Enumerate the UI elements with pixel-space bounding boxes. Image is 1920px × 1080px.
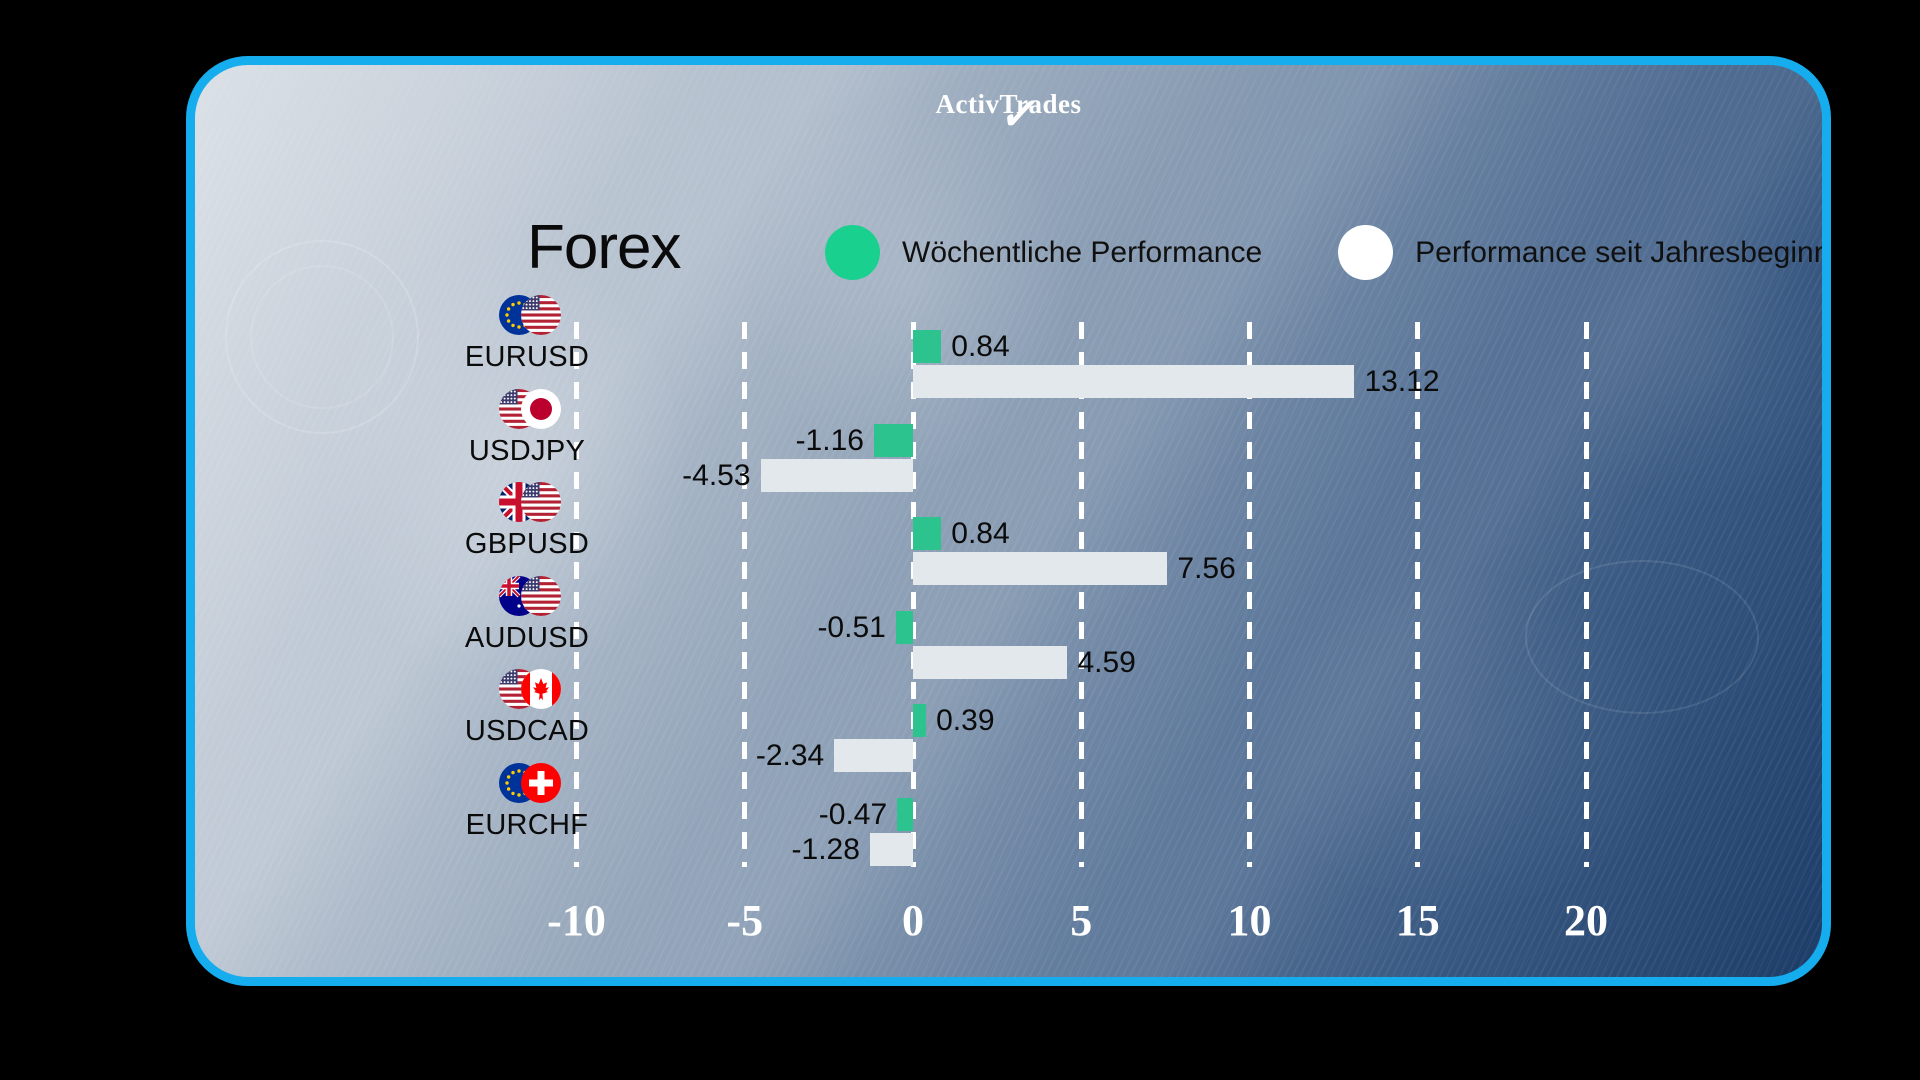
category-label-eurchf: EURCHF <box>417 763 637 842</box>
category-name: EURUSD <box>417 341 637 374</box>
category-name: GBPUSD <box>417 528 637 561</box>
bar-value-gbpusd-ytd: 7.56 <box>1177 552 1235 585</box>
category-label-eurusd: EURUSD <box>417 295 637 374</box>
chart-plot-area: EURUSD0.8413.12USDJPY-1.16-4.53GBPUSD0.8… <box>195 310 1822 880</box>
category-name: USDCAD <box>417 715 637 748</box>
bar-value-gbpusd-weekly: 0.84 <box>951 517 1009 550</box>
bar-usdcad-ytd[interactable] <box>834 739 913 772</box>
bar-value-eurusd-ytd: 13.12 <box>1364 365 1439 398</box>
x-axis-title: % Prozentuale Performance <box>195 970 1822 986</box>
bar-eurchf-ytd[interactable] <box>870 833 913 866</box>
flag-us-icon <box>521 576 561 616</box>
x-tick--5: -5 <box>726 895 763 946</box>
category-label-usdjpy: USDJPY <box>417 389 637 468</box>
white-dot-icon <box>1338 225 1393 280</box>
bar-usdcad-weekly[interactable] <box>913 704 926 737</box>
flag-pair-icon <box>417 295 637 339</box>
category-name: USDJPY <box>417 435 637 468</box>
activtrades-logo: Activ✓Trades <box>195 89 1822 120</box>
category-label-usdcad: USDCAD <box>417 669 637 748</box>
bar-value-usdcad-ytd: -2.34 <box>756 739 824 772</box>
gridline-15 <box>1415 322 1420 867</box>
bar-gbpusd-ytd[interactable] <box>913 552 1167 585</box>
bar-value-eurusd-weekly: 0.84 <box>951 330 1009 363</box>
flag-pair-icon <box>417 763 637 807</box>
x-tick--10: -10 <box>547 895 606 946</box>
category-name: AUDUSD <box>417 622 637 655</box>
flag-pair-icon <box>417 482 637 526</box>
bar-value-usdcad-weekly: 0.39 <box>936 704 994 737</box>
bar-eurusd-weekly[interactable] <box>913 330 941 363</box>
bar-value-audusd-weekly: -0.51 <box>817 611 885 644</box>
bar-value-eurchf-weekly: -0.47 <box>819 798 887 831</box>
bar-usdjpy-weekly[interactable] <box>874 424 913 457</box>
legend-label-weekly: Wöchentliche Performance <box>902 236 1262 270</box>
legend-label-ytd: Performance seit Jahresbeginn <box>1415 236 1830 270</box>
bar-eurchf-weekly[interactable] <box>897 798 913 831</box>
x-axis-ticks: -10-505101520 <box>195 895 1822 955</box>
page-title: Forex <box>527 217 680 279</box>
bar-value-usdjpy-ytd: -4.53 <box>682 459 750 492</box>
logo-activ: Activ <box>936 89 1000 119</box>
screenshot-root: Activ✓Trades Forex Wöchentliche Performa… <box>0 0 1920 1080</box>
green-dot-icon <box>825 225 880 280</box>
gridline-10 <box>1247 322 1252 867</box>
category-name: EURCHF <box>417 809 637 842</box>
legend-item-weekly[interactable]: Wöchentliche Performance <box>825 225 1262 280</box>
flag-us-icon <box>521 295 561 335</box>
category-label-gbpusd: GBPUSD <box>417 482 637 561</box>
bar-value-usdjpy-weekly: -1.16 <box>796 424 864 457</box>
infographic-card: Activ✓Trades Forex Wöchentliche Performa… <box>186 56 1831 986</box>
flag-ch-icon <box>521 763 561 803</box>
bar-gbpusd-weekly[interactable] <box>913 517 941 550</box>
bar-audusd-weekly[interactable] <box>896 611 913 644</box>
category-label-audusd: AUDUSD <box>417 576 637 655</box>
x-tick-10: 10 <box>1228 895 1272 946</box>
gridline-5 <box>1079 322 1084 867</box>
x-tick-15: 15 <box>1396 895 1440 946</box>
bar-value-eurchf-ytd: -1.28 <box>792 833 860 866</box>
x-tick-20: 20 <box>1564 895 1608 946</box>
flag-us-icon <box>521 482 561 522</box>
x-tick-0: 0 <box>902 895 924 946</box>
bar-audusd-ytd[interactable] <box>913 646 1067 679</box>
flag-pair-icon <box>417 389 637 433</box>
chart-legend: Wöchentliche Performance Performance sei… <box>825 225 1830 280</box>
gridline-0 <box>911 322 916 867</box>
flag-ca-icon <box>521 669 561 709</box>
bar-usdjpy-ytd[interactable] <box>761 459 913 492</box>
x-tick-5: 5 <box>1070 895 1092 946</box>
gridline--5 <box>742 322 747 867</box>
bar-eurusd-ytd[interactable] <box>913 365 1354 398</box>
gridline-20 <box>1584 322 1589 867</box>
flag-pair-icon <box>417 669 637 713</box>
flag-pair-icon <box>417 576 637 620</box>
legend-item-ytd[interactable]: Performance seit Jahresbeginn <box>1338 225 1830 280</box>
flag-jp-icon <box>521 389 561 429</box>
bar-value-audusd-ytd: 4.59 <box>1077 646 1135 679</box>
